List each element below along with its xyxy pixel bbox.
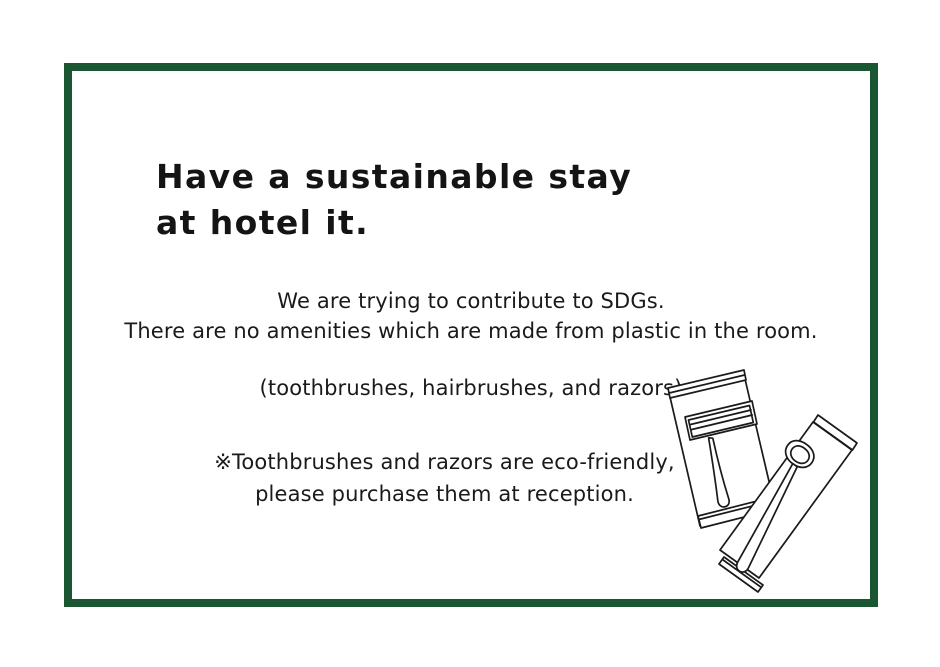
notice-frame-inner: Have a sustainable stay at hotel it. We … — [72, 71, 870, 599]
headline-line-2: at hotel it. — [156, 200, 776, 246]
notice-green-frame: Have a sustainable stay at hotel it. We … — [64, 63, 878, 607]
body-line-1: We are trying to contribute to SDGs. — [72, 286, 870, 316]
headline-block: Have a sustainable stay at hotel it. — [156, 154, 776, 246]
notice-card-canvas: Have a sustainable stay at hotel it. We … — [0, 0, 940, 667]
amenities-illustration — [656, 367, 882, 611]
headline-line-1: Have a sustainable stay — [156, 154, 776, 200]
body-line-2: There are no amenities which are made fr… — [72, 316, 870, 346]
